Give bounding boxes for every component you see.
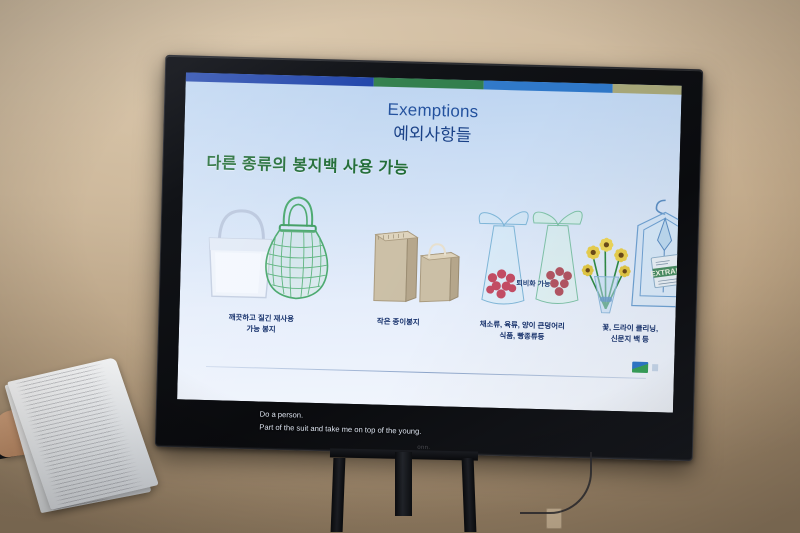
room-scene: Exemptions 예외사항들 다른 종류의 봉지백 사용 가능 <box>0 0 800 533</box>
scene-vignette <box>0 0 800 533</box>
